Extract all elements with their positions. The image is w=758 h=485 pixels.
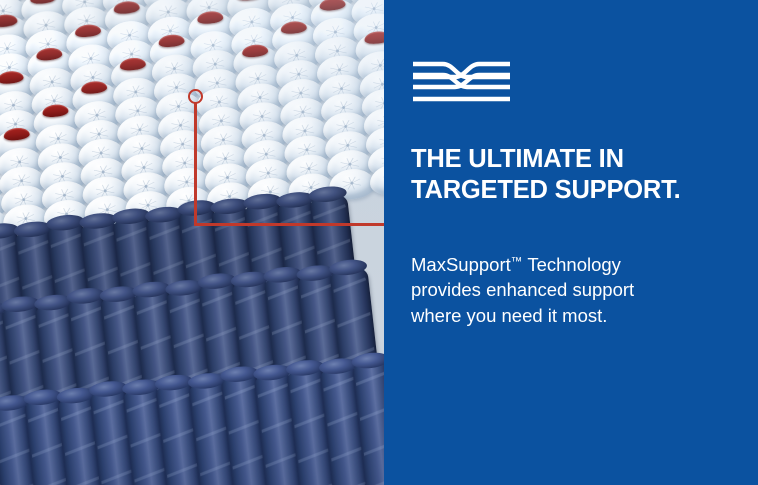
trademark-symbol: ™ [511,256,523,268]
page-title: THE ULTIMATE IN TARGETED SUPPORT. [411,144,741,206]
body-line-1: MaxSupport™ Technology [411,250,711,277]
wave-lines-logo-icon [413,60,510,104]
body-copy: MaxSupport™ Technology provides enhanced… [411,250,711,328]
body-line-1-tail: Technology [523,254,621,275]
mattress-coil-photo [0,0,384,485]
headline-line-2: TARGETED SUPPORT. [411,175,741,206]
navy-coil-field [0,178,384,485]
product-name: MaxSupport [411,254,511,275]
body-line-3: where you need it most. [411,303,711,329]
headline-line-1: THE ULTIMATE IN [411,144,741,175]
body-line-2: provides enhanced support [411,277,711,303]
content-panel: THE ULTIMATE IN TARGETED SUPPORT. MaxSup… [384,0,758,485]
promo-banner: THE ULTIMATE IN TARGETED SUPPORT. MaxSup… [0,0,758,485]
